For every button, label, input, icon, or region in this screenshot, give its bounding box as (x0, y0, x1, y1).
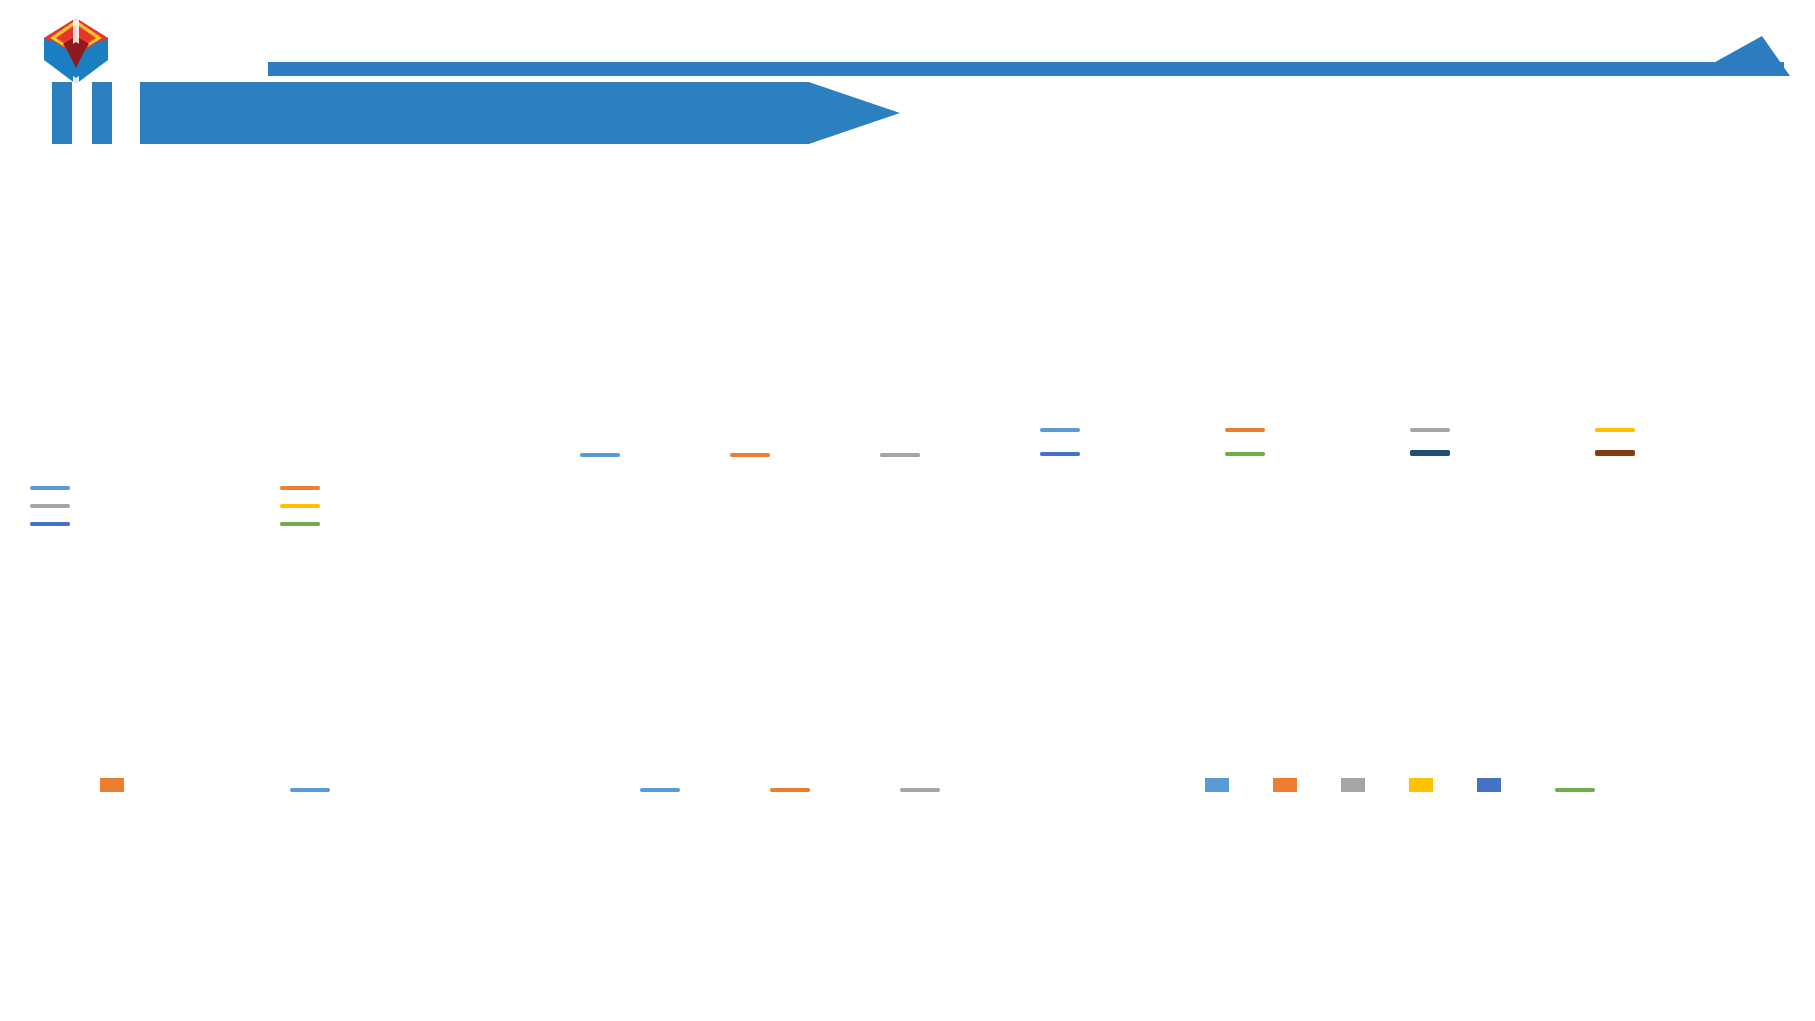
legend-item (1409, 778, 1437, 792)
chart-fee-legend (580, 443, 1010, 461)
legend-item (1273, 778, 1301, 792)
legend-swatch (30, 504, 70, 508)
chart-cost-legend (100, 778, 500, 796)
legend-swatch (1040, 452, 1080, 456)
chart-utilization (520, 545, 1020, 795)
legend-item (1341, 778, 1369, 792)
legend-item (280, 486, 324, 490)
legend-item (1225, 452, 1269, 456)
chart-fee-plot (520, 155, 1020, 455)
legend-swatch (1409, 778, 1433, 792)
chart-util-legend (640, 778, 1020, 796)
legend-swatch (1555, 788, 1595, 792)
legend-item (1410, 450, 1454, 456)
legend-swatch (1595, 450, 1635, 456)
legend-item (1205, 778, 1233, 792)
legend-swatch (1410, 428, 1450, 432)
legend-item (770, 788, 814, 792)
legend-swatch (280, 522, 320, 526)
chart-output-legend (1205, 778, 1765, 796)
chart-capacity-plot (1010, 155, 1510, 435)
legend-item (30, 486, 74, 490)
legend-swatch (1341, 778, 1365, 792)
legend-swatch (280, 486, 320, 490)
legend-item (290, 788, 334, 792)
legend-item (900, 788, 944, 792)
page-title (146, 88, 766, 140)
legend-swatch (1595, 428, 1635, 432)
legend-item (1225, 428, 1269, 432)
legend-swatch (1477, 778, 1501, 792)
legend-swatch (1040, 428, 1080, 432)
chart-capacity-legend (1040, 418, 1800, 460)
chart-price-legend (30, 476, 530, 530)
legend-item (1555, 788, 1599, 792)
legend-swatch (730, 453, 770, 457)
header-rule-arrow (1690, 36, 1790, 76)
legend-swatch (1410, 450, 1450, 456)
legend-item (1410, 428, 1454, 432)
legend-swatch (100, 778, 124, 792)
legend-swatch (1225, 428, 1265, 432)
legend-item (880, 453, 924, 457)
legend-swatch (900, 788, 940, 792)
legend-swatch (1205, 778, 1229, 792)
chart-util-plot (520, 545, 1020, 795)
chart-capacity (1010, 155, 1510, 435)
legend-item (1040, 428, 1084, 432)
legend-item (730, 453, 774, 457)
chart-price (40, 155, 530, 485)
header-rule (268, 62, 1784, 76)
legend-item (1595, 428, 1639, 432)
legend-swatch (640, 788, 680, 792)
legend-swatch (280, 504, 320, 508)
legend-swatch (30, 486, 70, 490)
title-accent-bar-2 (92, 82, 112, 144)
legend-item (100, 778, 128, 792)
legend-item (280, 522, 324, 526)
title-accent-bar-1 (52, 82, 72, 144)
legend-item (30, 522, 74, 526)
chart-price-plot (40, 155, 530, 485)
legend-swatch (770, 788, 810, 792)
chart-processing-fee (520, 155, 1020, 455)
chart-cost-profit (40, 545, 530, 795)
dayue-logo-icon (42, 16, 110, 86)
legend-swatch (1273, 778, 1297, 792)
legend-swatch (290, 788, 330, 792)
legend-item (1595, 450, 1639, 456)
legend-swatch (580, 453, 620, 457)
chart-monthly-output (1010, 545, 1510, 795)
legend-item (640, 788, 684, 792)
legend-item (280, 504, 324, 508)
legend-item (1040, 452, 1084, 456)
legend-item (580, 453, 624, 457)
legend-item (1477, 778, 1505, 792)
legend-swatch (30, 522, 70, 526)
chart-cost-plot (40, 545, 530, 795)
legend-swatch (880, 453, 920, 457)
chart-output-plot (1010, 545, 1510, 795)
legend-swatch (1225, 452, 1265, 456)
legend-item (30, 504, 74, 508)
